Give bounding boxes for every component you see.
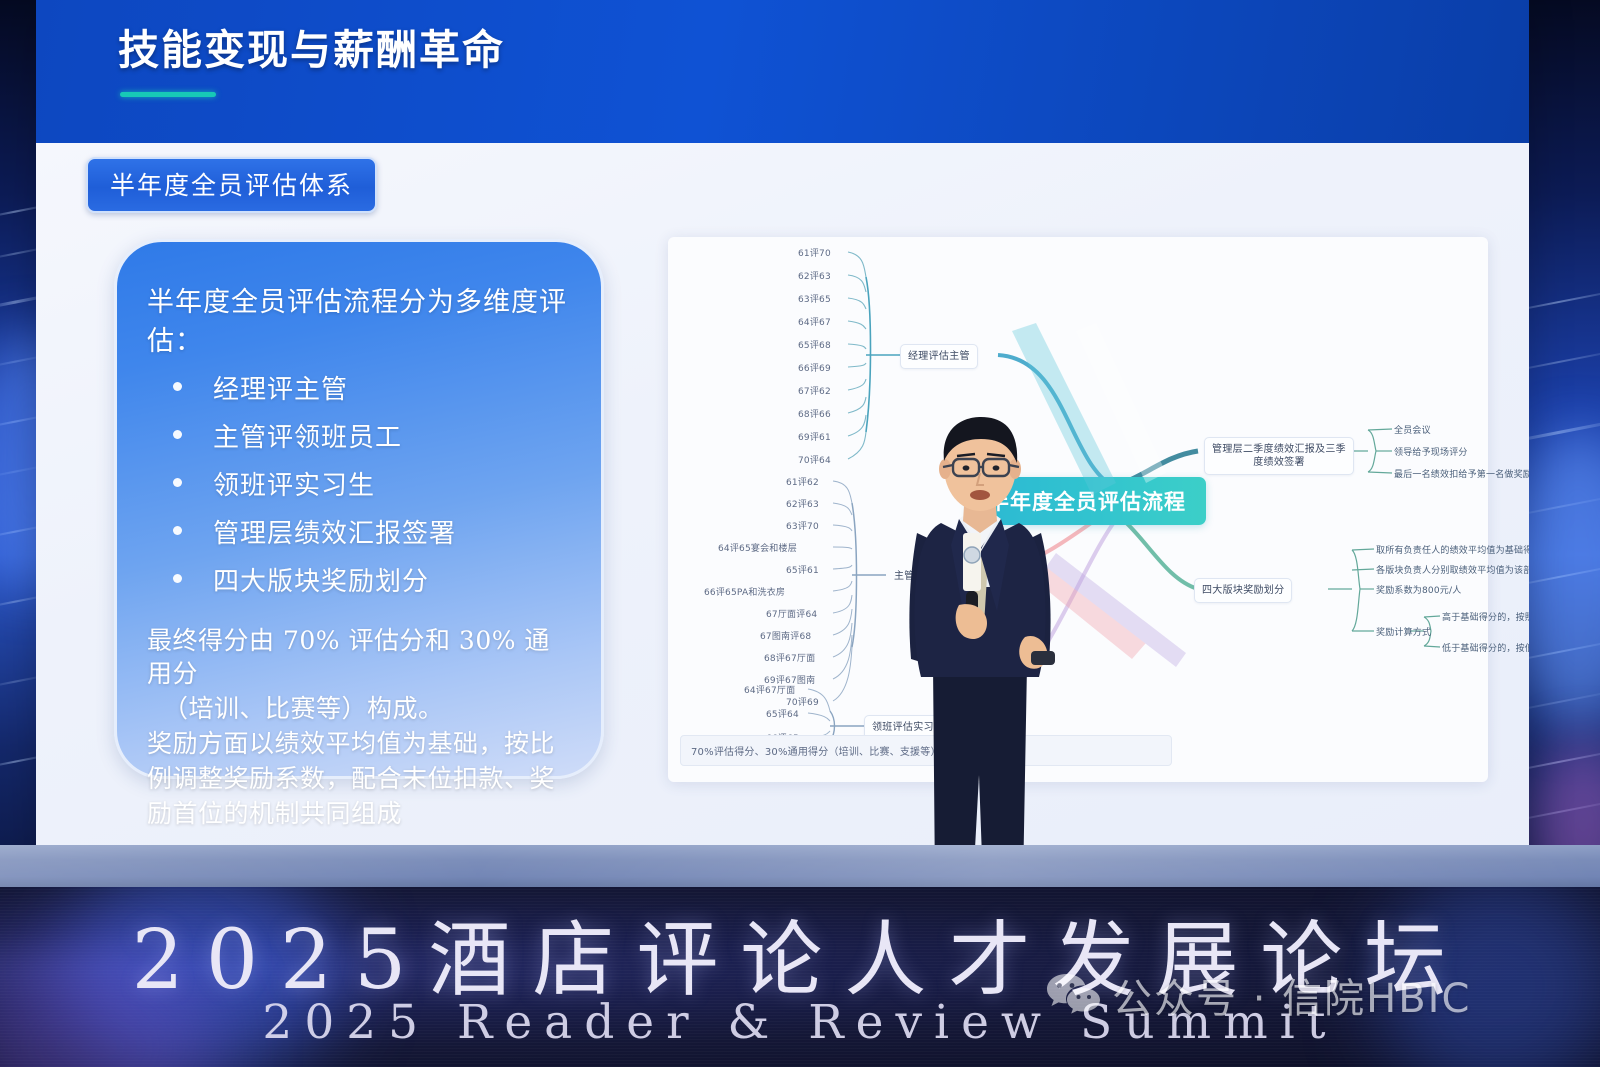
mindmap-leaf: 68评67厅面: [764, 651, 815, 664]
mindmap-leaf: 61评62: [786, 475, 819, 488]
mindmap-leaf: 最后一名绩效扣给予第一名做奖励: [1394, 467, 1529, 480]
mindmap-leaf: 64评67厅面: [744, 683, 795, 696]
projection-slide: 技能变现与薪酬革命 半年度全员评估体系 半年度全员评估流程分为多维度评估： 经理…: [36, 0, 1529, 888]
mindmap-node-four-sector-reward-split[interactable]: 四大版块奖励划分: [1194, 578, 1292, 603]
mindmap-leaf: 69评61: [798, 430, 831, 443]
mindmap-leaf: 63评70: [786, 519, 819, 532]
mindmap-leaf: 63评65: [798, 292, 831, 305]
info-card-lead: 半年度全员评估流程分为多维度评估：: [147, 280, 571, 358]
page-title: 技能变现与薪酬革命: [118, 16, 505, 76]
mindmap-leaf: 64评65宴会和楼层: [718, 541, 797, 554]
mindmap-leaf: 奖励计算方式: [1376, 625, 1431, 638]
mindmap-leaf: 67图南评68: [760, 629, 811, 642]
footer-line: 奖励方面以绩效平均值为基础，按比: [147, 727, 571, 760]
mindmap-leaf: 65评68: [798, 338, 831, 351]
conference-stage-photo: 技能变现与薪酬革命 半年度全员评估体系 半年度全员评估流程分为多维度评估： 经理…: [0, 0, 1600, 1067]
mindmap-leaf: 61评70: [798, 246, 831, 259]
info-card: 半年度全员评估流程分为多维度评估： 经理评主管 主管评领班员工 领班评实习生 管…: [114, 239, 604, 779]
mindmap-leaf: 各版块负责人分别取绩效平均值为该部门得分: [1376, 563, 1529, 576]
mindmap-leaf: 66评69: [798, 361, 831, 374]
speaker-person: [855, 415, 1105, 888]
mindmap-leaf: 62评63: [786, 497, 819, 510]
footer-line: 最终得分由 70% 评估分和 30% 通用分: [147, 624, 571, 690]
mindmap-leaf: 68评66: [798, 407, 831, 420]
mindmap-leaf: 62评63: [798, 269, 831, 282]
mindmap-leaf: 64评67: [798, 315, 831, 328]
stage-floor: [0, 845, 1600, 887]
mindmap-leaf: 低于基础得分的，按低于比例降低奖励系数: [1442, 641, 1529, 654]
wechat-icon: [1046, 972, 1100, 1018]
watermark-text: 公众号 · 信院HBIC: [1112, 966, 1471, 1024]
mindmap-leaf: 领导给予现场评分: [1394, 445, 1468, 458]
wechat-watermark: 公众号 · 信院HBIC: [1046, 966, 1471, 1024]
mindmap-leaf: 70评64: [798, 453, 831, 466]
mindmap-node-manager-evaluates-supervisor[interactable]: 经理评估主管: [900, 344, 978, 369]
list-item: 经理评主管: [165, 369, 571, 406]
mindmap-leaf: 奖励系数为800元/人: [1376, 583, 1461, 596]
mindmap-leaf: 取所有负责任人的绩效平均值为基础得分: [1376, 543, 1529, 556]
footer-line: 例调整奖励系数，配合末位扣款、奖: [147, 762, 571, 795]
slide-header-band: 技能变现与薪酬革命: [36, 0, 1529, 143]
mindmap-node-management-quarterly-report[interactable]: 管理层二季度绩效汇报及三季度绩效签署: [1204, 437, 1354, 475]
mindmap-leaf: 67厅面评64: [766, 607, 817, 620]
list-item: 领班评实习生: [165, 465, 571, 502]
mindmap-leaf: 67评62: [798, 384, 831, 397]
list-item: 管理层绩效汇报签署: [165, 513, 571, 550]
mindmap-leaf: 全员会议: [1394, 423, 1431, 436]
footer-line: （培训、比赛等）构成。: [147, 692, 571, 725]
list-item: 主管评领班员工: [165, 417, 571, 454]
footer-line: 励首位的机制共同组成: [147, 797, 571, 830]
mindmap-leaf: 高于基础得分的，按照比例提升奖励系数: [1442, 610, 1529, 623]
mindmap-leaf: 65评61: [786, 563, 819, 576]
title-underline-accent: [120, 92, 216, 97]
info-card-footer: 最终得分由 70% 评估分和 30% 通用分 （培训、比赛等）构成。 奖励方面以…: [147, 624, 571, 830]
mindmap-leaf: 66评65PA和洗衣房: [704, 585, 785, 598]
list-item: 四大版块奖励划分: [165, 561, 571, 598]
section-badge: 半年度全员评估体系: [86, 157, 377, 213]
mindmap-leaf: 65评64: [766, 707, 799, 720]
slide-body: 半年度全员评估体系 半年度全员评估流程分为多维度评估： 经理评主管 主管评领班员…: [36, 143, 1529, 888]
evaluation-bullet-list: 经理评主管 主管评领班员工 领班评实习生 管理层绩效汇报签署 四大版块奖励划分: [165, 369, 571, 598]
